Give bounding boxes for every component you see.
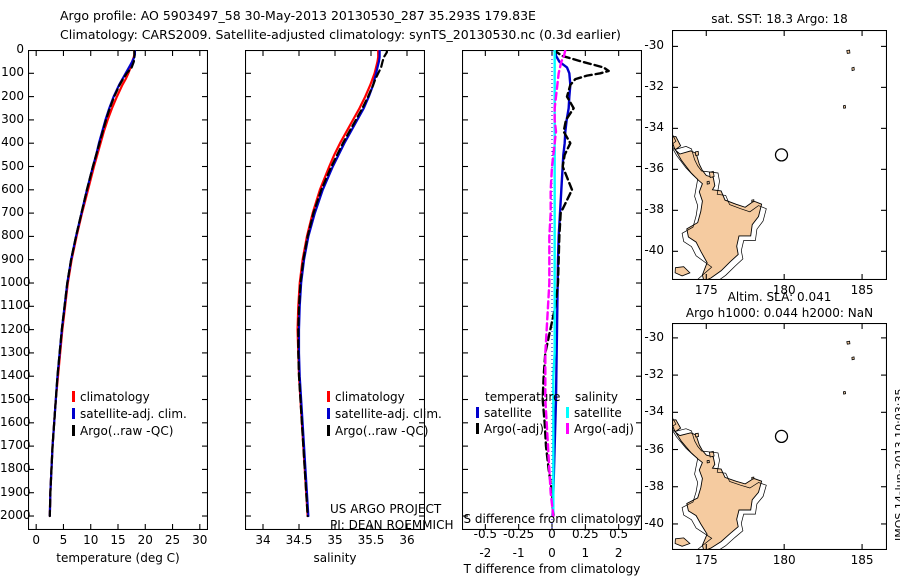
- difference-legend-salinity: salinity satellite Argo(-adj): [566, 390, 634, 436]
- island-5: [847, 50, 850, 53]
- sst-map-ytick--30: -30: [634, 38, 664, 52]
- island-4: [675, 538, 690, 546]
- difference-salinity-axis-label: S difference from climatology: [462, 512, 642, 526]
- legend-item-temp-satellite: satellite: [476, 406, 560, 420]
- sst-map-ytick--38: -38: [634, 202, 664, 216]
- legend-item-sal-argo-adj: Argo(-adj): [566, 422, 634, 436]
- curve-climatology: [50, 50, 135, 516]
- legend-item-satellite-adj: satellite-adj. clim.: [72, 407, 187, 421]
- legend-item-argo-raw: Argo(..raw -QC): [72, 424, 187, 438]
- depth-tick-200: 200: [0, 89, 24, 103]
- salinity-xtick-34.5: 34.5: [279, 533, 319, 547]
- sst-map-title: sat. SST: 18.3 Argo: 18: [672, 12, 887, 26]
- sla-map-xtick-175: 175: [686, 553, 726, 567]
- sla-map: [672, 323, 887, 550]
- curve-climatology: [298, 50, 379, 516]
- island-1: [695, 433, 698, 437]
- depth-tick-900: 900: [0, 252, 24, 266]
- island-2: [752, 200, 754, 202]
- legend-label-climatology: climatology: [80, 390, 150, 404]
- legend-swatch-climatology-sal: [327, 391, 330, 402]
- island-7: [843, 392, 845, 395]
- salinity-axis-label: salinity: [245, 551, 425, 565]
- depth-tick-1900: 1900: [0, 485, 24, 499]
- sla-map-ytick--38: -38: [634, 479, 664, 493]
- sst-map-ytick--36: -36: [634, 161, 664, 175]
- curve-satellite-adj-clim-: [50, 50, 135, 516]
- credit-line2: PI: DEAN ROEMMICH: [330, 518, 453, 532]
- depth-tick-2000: 2000: [0, 508, 24, 522]
- temperature-legend: climatology satellite-adj. clim. Argo(..…: [72, 390, 187, 438]
- sst-map-ytick--40: -40: [634, 243, 664, 257]
- temperature-panel: [28, 50, 208, 530]
- imos-timestamp: IMOS 14-Jun-2013 10:03:35: [893, 388, 900, 541]
- depth-tick-1700: 1700: [0, 438, 24, 452]
- depth-tick-600: 600: [0, 182, 24, 196]
- north-island-landmass: [672, 420, 762, 550]
- sla-map-xtick-labels: 175180185: [672, 553, 887, 569]
- temperature-xtick-labels: 051015202530: [28, 533, 208, 549]
- legend-label-sal-satellite: satellite: [574, 406, 622, 420]
- depth-tick-800: 800: [0, 228, 24, 242]
- sla-map-ytick--30: -30: [634, 330, 664, 344]
- depth-tick-1000: 1000: [0, 275, 24, 289]
- sla-map-canvas: [672, 323, 887, 550]
- salinity-xtick-35: 35: [315, 533, 355, 547]
- legend-swatch-temp-satellite: [476, 407, 479, 418]
- difference-s-xtick-labels: -0.5-0.2500.250.5: [462, 527, 642, 543]
- north-island-landmass: [672, 137, 762, 280]
- legend-item-satellite-adj-sal: satellite-adj. clim.: [327, 407, 442, 421]
- legend-group-temperature-title: temperature: [485, 390, 560, 404]
- salinity-xtick-35.5: 35.5: [351, 533, 391, 547]
- depth-tick-400: 400: [0, 135, 24, 149]
- temperature-plot: [28, 50, 208, 530]
- sla-map-subtitle: Argo h1000: 0.044 h2000: NaN: [662, 306, 897, 320]
- difference-s-xtick-0.5: 0.5: [599, 527, 639, 541]
- sla-map-title: Altim. SLA: 0.041: [672, 290, 887, 304]
- legend-item-argo-raw-sal: Argo(..raw -QC): [327, 424, 442, 438]
- legend-item-sal-satellite: satellite: [566, 406, 634, 420]
- temperature-ytick-labels: 0100200300400500600700800900100011001200…: [0, 50, 26, 530]
- legend-item-climatology-sal: climatology: [327, 390, 442, 404]
- island-5: [847, 341, 850, 344]
- legend-swatch-sal-satellite: [566, 407, 569, 418]
- legend-item-climatology: climatology: [72, 390, 187, 404]
- island-7: [843, 105, 845, 108]
- difference-t-xtick-labels: -2-1012: [462, 546, 642, 562]
- sla-map-ytick--36: -36: [634, 442, 664, 456]
- argo-position-marker: [776, 149, 788, 161]
- legend-swatch-argo-raw: [72, 425, 75, 436]
- salinity-panel: [245, 50, 425, 530]
- sst-map: [672, 30, 887, 280]
- island-6: [852, 357, 854, 360]
- difference-plot: [462, 50, 642, 530]
- depth-tick-300: 300: [0, 112, 24, 126]
- depth-tick-1300: 1300: [0, 345, 24, 359]
- legend-swatch-sal-argo-adj: [566, 423, 569, 434]
- legend-swatch-satellite-adj-sal: [327, 408, 330, 419]
- difference-panel: [462, 50, 642, 530]
- legend-group-salinity-title: salinity: [575, 390, 634, 404]
- legend-label-satellite-adj: satellite-adj. clim.: [80, 407, 187, 421]
- legend-item-temp-argo-adj: Argo(-adj): [476, 422, 560, 436]
- depth-tick-1400: 1400: [0, 368, 24, 382]
- curve-argo-raw-qc-: [298, 50, 387, 516]
- difference-legend: temperature satellite Argo(-adj): [476, 390, 560, 436]
- sla-map-xtick-185: 185: [842, 553, 882, 567]
- legend-label-temp-argo-adj: Argo(-adj): [484, 422, 544, 436]
- sst-map-ytick--32: -32: [634, 79, 664, 93]
- sla-map-ytick--32: -32: [634, 367, 664, 381]
- depth-tick-100: 100: [0, 65, 24, 79]
- argo-position-marker: [776, 430, 788, 442]
- temperature-xtick-30: 30: [180, 533, 220, 547]
- legend-label-sal-argo-adj: Argo(-adj): [574, 422, 634, 436]
- island-4: [675, 267, 690, 276]
- legend-swatch-climatology: [72, 391, 75, 402]
- salinity-legend: climatology satellite-adj. clim. Argo(..…: [327, 390, 442, 438]
- island-3: [707, 460, 709, 463]
- salinity-xtick-36: 36: [387, 533, 427, 547]
- legend-label-satellite-adj-sal: satellite-adj. clim.: [335, 407, 442, 421]
- difference-t-xtick-2: 2: [599, 546, 639, 560]
- page-title-line2: Climatology: CARS2009. Satellite-adjuste…: [60, 27, 621, 42]
- legend-swatch-temp-argo-adj: [476, 423, 479, 434]
- sst-map-canvas: [672, 30, 887, 280]
- legend-label-argo-raw-sal: Argo(..raw -QC): [335, 424, 428, 438]
- legend-label-temp-satellite: satellite: [484, 406, 532, 420]
- legend-label-climatology-sal: climatology: [335, 390, 405, 404]
- legend-swatch-argo-raw-sal: [327, 425, 330, 436]
- legend-swatch-satellite-adj: [72, 408, 75, 419]
- sla-map-xtick-180: 180: [764, 553, 804, 567]
- temperature-axis-label: temperature (deg C): [28, 551, 208, 565]
- depth-tick-700: 700: [0, 205, 24, 219]
- depth-tick-500: 500: [0, 159, 24, 173]
- depth-tick-1800: 1800: [0, 461, 24, 475]
- island-1: [695, 151, 698, 155]
- difference-temperature-axis-label: T difference from climatology: [462, 562, 642, 576]
- credit-line1: US ARGO PROJECT: [330, 502, 441, 516]
- island-3: [707, 181, 709, 184]
- salinity-xtick-34: 34: [243, 533, 283, 547]
- sla-map-ytick--40: -40: [634, 516, 664, 530]
- depth-tick-1200: 1200: [0, 322, 24, 336]
- salinity-xtick-labels: 3434.53535.536: [245, 533, 425, 549]
- depth-tick-1600: 1600: [0, 415, 24, 429]
- sst-map-ytick--34: -34: [634, 120, 664, 134]
- sla-map-ytick-labels: -30-32-34-36-38-40: [634, 323, 668, 550]
- salinity-plot: [245, 50, 425, 530]
- legend-label-argo-raw: Argo(..raw -QC): [80, 424, 173, 438]
- depth-tick-0: 0: [0, 42, 24, 56]
- island-6: [852, 67, 854, 70]
- curve-satellite-adj-clim-: [299, 50, 380, 516]
- sla-map-ytick--34: -34: [634, 404, 664, 418]
- depth-tick-1100: 1100: [0, 298, 24, 312]
- curve-argo-raw-qc-: [50, 50, 135, 516]
- depth-tick-1500: 1500: [0, 392, 24, 406]
- sst-map-ytick-labels: -30-32-34-36-38-40: [634, 30, 668, 280]
- island-2: [752, 477, 754, 479]
- page-title-line1: Argo profile: AO 5903497_58 30-May-2013 …: [60, 8, 536, 23]
